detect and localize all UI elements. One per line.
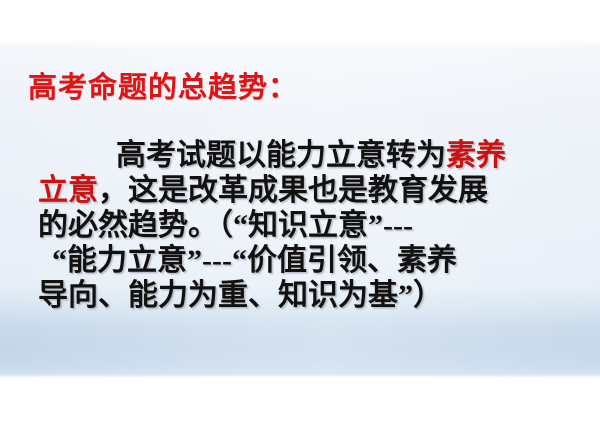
body-line-1: 高考试题以能力立意转为素养 [0,138,600,173]
slide-title: 高考命题的总趋势： [28,64,298,106]
body-line-1-accent: 素养 [446,139,506,172]
body-line-4: “能力立意”---“价值引领、素养 [0,243,600,278]
body-line-2-accent: 立意 [38,174,98,207]
body-line-5: 导向、能力为重、知识为基”） [0,278,600,313]
body-line-2-text: ，这是改革成果也是教育发展 [98,174,488,207]
body-line-1-text: 高考试题以能力立意转为 [116,139,446,172]
slide-body: 高考试题以能力立意转为素养 立意，这是改革成果也是教育发展 的必然趋势。（“知识… [0,138,600,313]
body-line-2: 立意，这是改革成果也是教育发展 [0,173,600,208]
body-line-3: 的必然趋势。（“知识立意”--- [0,208,600,243]
slide-canvas: 高考命题的总趋势： 高考试题以能力立意转为素养 立意，这是改革成果也是教育发展 … [0,0,600,424]
